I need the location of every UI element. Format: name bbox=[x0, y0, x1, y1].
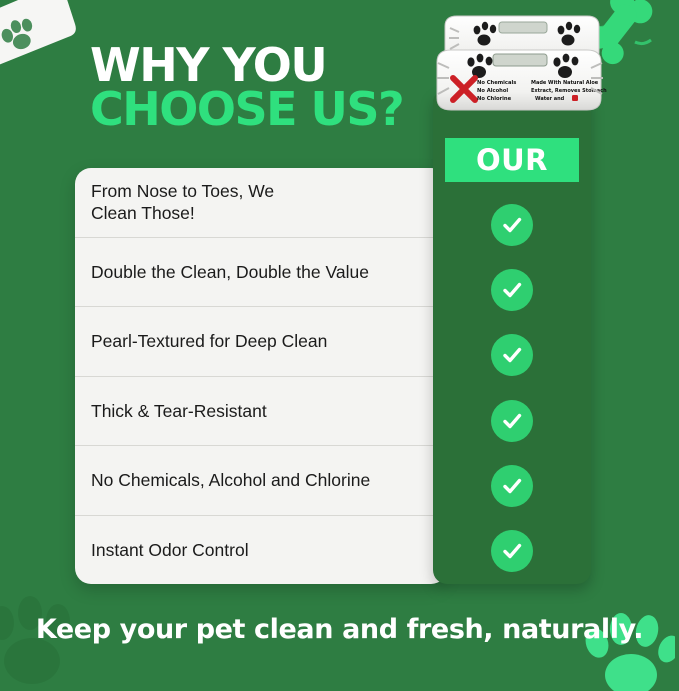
check-icon bbox=[491, 465, 533, 507]
headline-line-1: WHY YOU bbox=[90, 44, 403, 86]
svg-text:Water and: Water and bbox=[535, 96, 565, 102]
our-product-column: OUR bbox=[433, 92, 591, 584]
feature-row: Thick & Tear-Resistant bbox=[75, 377, 447, 447]
feature-row: Instant Odor Control bbox=[75, 516, 447, 585]
check-icon bbox=[491, 269, 533, 311]
product-pack-image: No Chemicals No Alcohol No Chlorine Made… bbox=[425, 8, 611, 120]
svg-text:Made With Natural Aloe: Made With Natural Aloe bbox=[531, 80, 599, 86]
feature-label: No Chemicals, Alcohol and Chlorine bbox=[91, 469, 370, 491]
our-column-check-list bbox=[433, 192, 591, 584]
feature-row: Pearl-Textured for Deep Clean bbox=[75, 307, 447, 377]
check-cell bbox=[433, 388, 591, 453]
check-icon bbox=[491, 204, 533, 246]
headline-line-2: CHOOSE US? bbox=[90, 88, 403, 130]
svg-text:No Chemicals: No Chemicals bbox=[477, 80, 516, 86]
check-cell bbox=[433, 257, 591, 322]
feature-comparison-card: From Nose to Toes, WeClean Those! Double… bbox=[75, 168, 447, 584]
svg-text:No Alcohol: No Alcohol bbox=[477, 88, 508, 94]
check-cell bbox=[433, 323, 591, 388]
footer-tagline: Keep your pet clean and fresh, naturally… bbox=[0, 614, 679, 645]
check-cell bbox=[433, 453, 591, 518]
check-cell bbox=[433, 192, 591, 257]
feature-row: Double the Clean, Double the Value bbox=[75, 238, 447, 308]
product-pack-top-left-decoration bbox=[0, 0, 92, 102]
our-column-header: OUR bbox=[445, 138, 579, 182]
check-icon bbox=[491, 530, 533, 572]
feature-label: From Nose to Toes, WeClean Those! bbox=[91, 180, 274, 225]
check-icon bbox=[491, 400, 533, 442]
feature-row: From Nose to Toes, WeClean Those! bbox=[75, 168, 447, 238]
check-cell bbox=[433, 519, 591, 584]
feature-label: Pearl-Textured for Deep Clean bbox=[91, 330, 327, 352]
feature-label: Thick & Tear-Resistant bbox=[91, 400, 267, 422]
feature-label: Instant Odor Control bbox=[91, 539, 249, 561]
feature-label: Double the Clean, Double the Value bbox=[91, 261, 369, 283]
svg-text:No Chlorine: No Chlorine bbox=[477, 96, 512, 102]
check-icon bbox=[491, 334, 533, 376]
page-title: WHY YOU CHOOSE US? bbox=[90, 44, 403, 131]
feature-row: No Chemicals, Alcohol and Chlorine bbox=[75, 446, 447, 516]
